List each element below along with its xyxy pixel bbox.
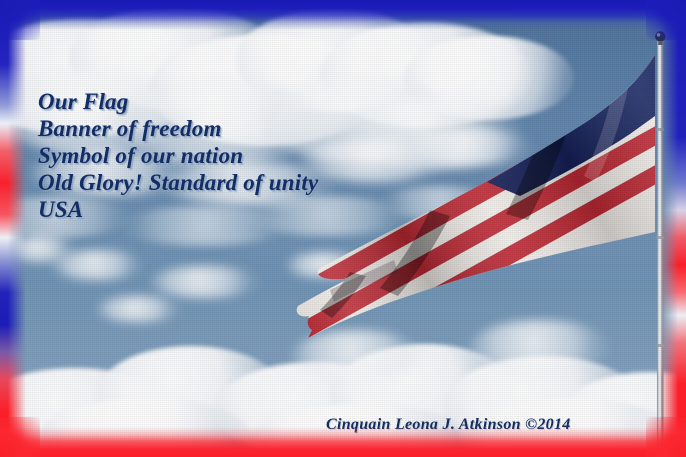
cloud-puff xyxy=(150,266,260,298)
cloud-puff xyxy=(6,236,76,262)
poem-line-5: USA xyxy=(38,196,318,223)
attribution-credit: Cinquain Leona J. Atkinson ©2014 xyxy=(326,416,571,434)
cloud-puff xyxy=(96,296,182,322)
cloud-bank xyxy=(470,320,610,374)
poem-line-1: Our Flag xyxy=(38,88,318,115)
flag-photograph xyxy=(0,0,686,457)
poem-line-2: Banner of freedom xyxy=(38,115,318,142)
poem-line-4: Old Glory! Standard of unity xyxy=(38,169,318,196)
cloud-wisp xyxy=(404,128,534,166)
cloud-bank xyxy=(292,330,422,380)
cloud-puff xyxy=(286,252,366,278)
poster-image: Our Flag Banner of freedom Symbol of our… xyxy=(0,0,686,457)
cloud-wisp xyxy=(380,186,500,220)
poem-text-block: Our Flag Banner of freedom Symbol of our… xyxy=(38,88,318,223)
poem-line-3: Symbol of our nation xyxy=(38,142,318,169)
